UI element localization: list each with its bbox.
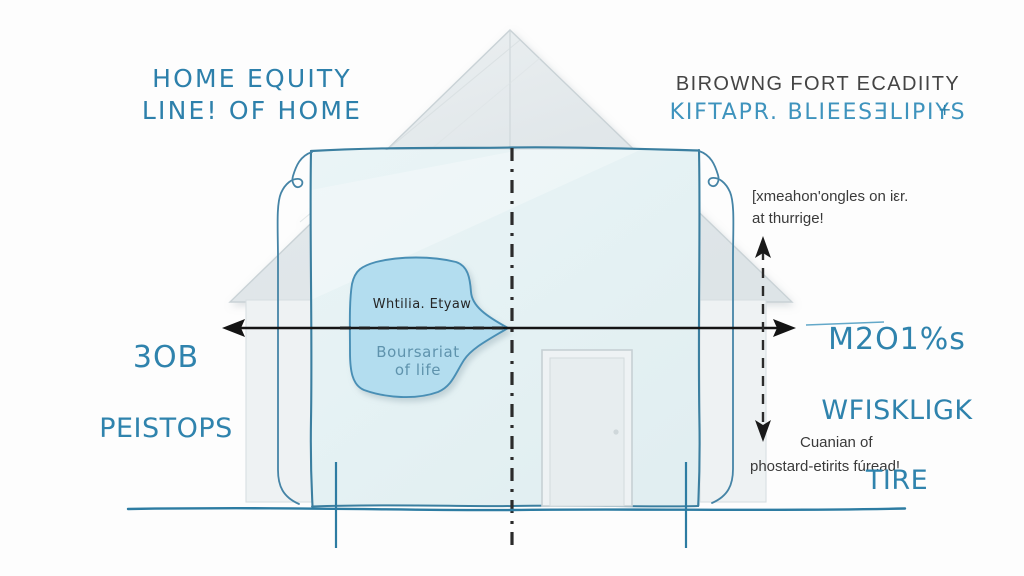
right-heading-line1: BIROWNG FORT ECADIITY — [648, 70, 988, 99]
upper-right-note-line1: [xmeahon'ongles on iεr. — [752, 186, 1002, 208]
blob-label-bottom-line2: of life — [352, 362, 484, 379]
left-heading-line1: HOME EQUITY — [112, 64, 392, 95]
left-side-label-line2: PEISTOPS — [66, 413, 266, 445]
door-shape — [542, 350, 632, 506]
right-side-label-line1: M2O1%s — [792, 322, 1002, 357]
right-heading-superscript: + — [938, 100, 953, 120]
left-side-label-line1: 3OB — [66, 340, 266, 375]
right-side-label-line3: TIRE — [792, 465, 1002, 497]
right-side-label-line2: WFISKLIGK — [792, 395, 1002, 427]
left-heading-line2: LINE! OF HOME — [112, 96, 392, 127]
blob-label-top: Whtilia. Etyaw — [352, 297, 492, 313]
left-side-label: 3OB PEISTOPS — [66, 302, 266, 483]
upper-right-note-line2: at thurrige! — [752, 208, 1002, 230]
diagram-canvas: HOME EQUITY LINE! OF HOME BIROWNG FORT E… — [0, 0, 1024, 576]
blob-label-bottom-line1: Boursariat — [352, 344, 484, 361]
right-side-label: M2O1%s WFISKLIGK TIRE — [792, 284, 1002, 534]
right-heading-line2: KIFTAPR. BLIEESƎLIPIYS — [648, 100, 988, 127]
